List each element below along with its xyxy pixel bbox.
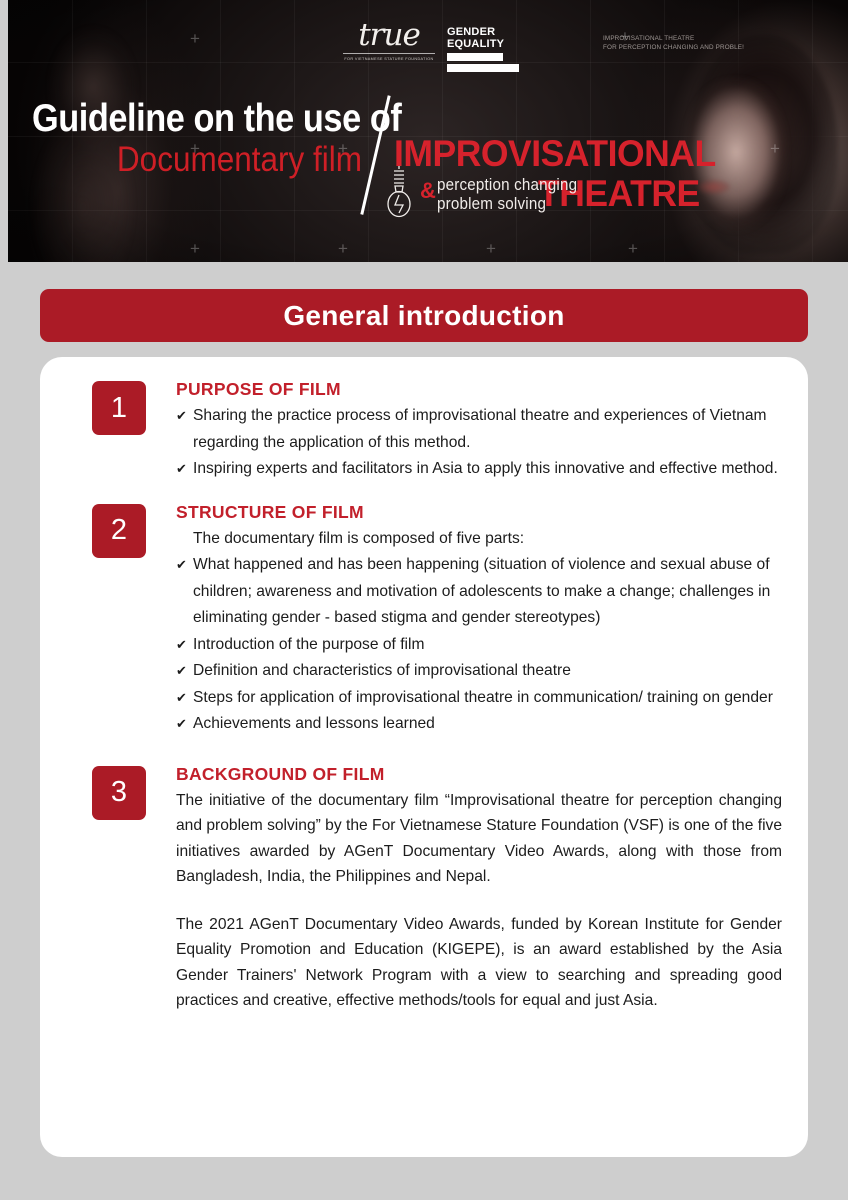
list-item-text: Introduction of the purpose of film <box>193 636 424 653</box>
list-item-text: Inspiring experts and facilitators in As… <box>193 460 778 477</box>
section-title: PURPOSE OF FILM <box>176 379 782 400</box>
check-icon: ✔ <box>176 711 187 738</box>
main-subtitle-line1: perception changing <box>437 176 577 194</box>
list-item: ✔ Steps for application of improvisation… <box>176 685 782 712</box>
list-item-text: Achievements and lessons learned <box>193 715 435 732</box>
section-paragraph: The initiative of the documentary film “… <box>176 788 782 890</box>
check-icon: ✔ <box>176 456 187 483</box>
true-logo-subtitle: FOR VIETNAMESE STATURE FOUNDATION <box>338 56 441 62</box>
list-item: ✔ Definition and characteristics of impr… <box>176 658 782 685</box>
logo-row: true FOR VIETNAMESE STATURE FOUNDATION G… <box>8 0 848 80</box>
section-title: STRUCTURE OF FILM <box>176 502 782 523</box>
section-body: STRUCTURE OF FILM The documentary film i… <box>176 502 782 738</box>
list-item-text: Steps for application of improvisational… <box>193 689 773 706</box>
section-body: PURPOSE OF FILM ✔ Sharing the practice p… <box>176 379 782 483</box>
header-right-caption-line2: FOR PERCEPTION CHANGING AND PROBLE! <box>603 44 756 53</box>
section-number-badge: 1 <box>92 381 146 435</box>
list-intro-text: The documentary film is composed of five… <box>193 530 524 547</box>
plus-marker-icon: + <box>770 140 780 157</box>
section-1-list: ✔ Sharing the practice process of improv… <box>176 403 782 483</box>
header-right-caption-line1: IMPROVISATIONAL THEATRE <box>603 35 756 44</box>
main-title-line2: Documentary film <box>65 140 362 180</box>
gender-equality-line2: EQUALITY <box>447 39 523 51</box>
section-number-badge: 2 <box>92 504 146 558</box>
ampersand-mark: & <box>420 180 436 202</box>
check-icon: ✔ <box>176 658 187 685</box>
plus-marker-icon: + <box>628 240 638 257</box>
section-paragraph: The 2021 AGenT Documentary Video Awards,… <box>176 912 782 1014</box>
list-item: ✔ What happened and has been happening (… <box>176 552 782 632</box>
gender-equality-bar-bottom <box>447 64 519 72</box>
check-icon: ✔ <box>176 632 187 659</box>
plus-marker-icon: + <box>338 240 348 257</box>
check-icon: ✔ <box>176 403 187 430</box>
list-item: ✔ Inspiring experts and facilitators in … <box>176 456 782 483</box>
list-intro-line: The documentary film is composed of five… <box>176 526 782 553</box>
section-title: BACKGROUND OF FILM <box>176 764 782 785</box>
plus-marker-icon: + <box>486 240 496 257</box>
main-title-improvisational: IMPROVISATIONAL <box>394 135 701 173</box>
list-item: ✔ Introduction of the purpose of film <box>176 632 782 659</box>
list-item: ✔ Achievements and lessons learned <box>176 711 782 738</box>
list-item-text: Definition and characteristics of improv… <box>193 662 571 679</box>
check-icon: ✔ <box>176 552 187 579</box>
main-title-left: Guideline on the use of Documentary film <box>32 98 362 180</box>
gender-equality-logo: GENDER EQUALITY <box>447 27 523 72</box>
list-item-text: Sharing the practice process of improvis… <box>193 407 767 451</box>
header-right-caption: IMPROVISATIONAL THEATRE FOR PERCEPTION C… <box>603 35 753 52</box>
true-logo-rule <box>343 53 435 54</box>
main-subtitle-line2: problem solving <box>437 195 546 213</box>
section-block-1: 1 PURPOSE OF FILM ✔ Sharing the practice… <box>92 379 782 483</box>
gender-equality-bar-top <box>447 53 503 61</box>
list-item-text: What happened and has been happening (si… <box>193 556 770 626</box>
main-title-right: IMPROVISATIONAL THEATRE & perception cha… <box>394 135 714 173</box>
section-banner: General introduction <box>40 289 808 342</box>
true-foundation-logo: true FOR VIETNAMESE STATURE FOUNDATION <box>340 18 438 62</box>
list-item: ✔ Sharing the practice process of improv… <box>176 403 782 456</box>
section-number-badge: 3 <box>92 766 146 820</box>
gender-equality-line1: GENDER <box>447 27 523 39</box>
poster-page: + + + + + + + + + true FOR VIETNAMESE ST… <box>0 0 848 1200</box>
section-block-2: 2 STRUCTURE OF FILM The documentary film… <box>92 502 782 738</box>
header-banner: + + + + + + + + + true FOR VIETNAMESE ST… <box>8 0 848 262</box>
plus-marker-icon: + <box>190 240 200 257</box>
section-banner-title: General introduction <box>283 300 564 332</box>
content-card: 1 PURPOSE OF FILM ✔ Sharing the practice… <box>40 357 808 1157</box>
section-block-3: 3 BACKGROUND OF FILM The initiative of t… <box>92 764 782 1014</box>
section-2-list: The documentary film is composed of five… <box>176 526 782 738</box>
section-body: BACKGROUND OF FILM The initiative of the… <box>176 764 782 1014</box>
true-logo-script: true <box>340 18 438 52</box>
check-icon: ✔ <box>176 685 187 712</box>
main-title-line1: Guideline on the use of <box>32 98 322 140</box>
